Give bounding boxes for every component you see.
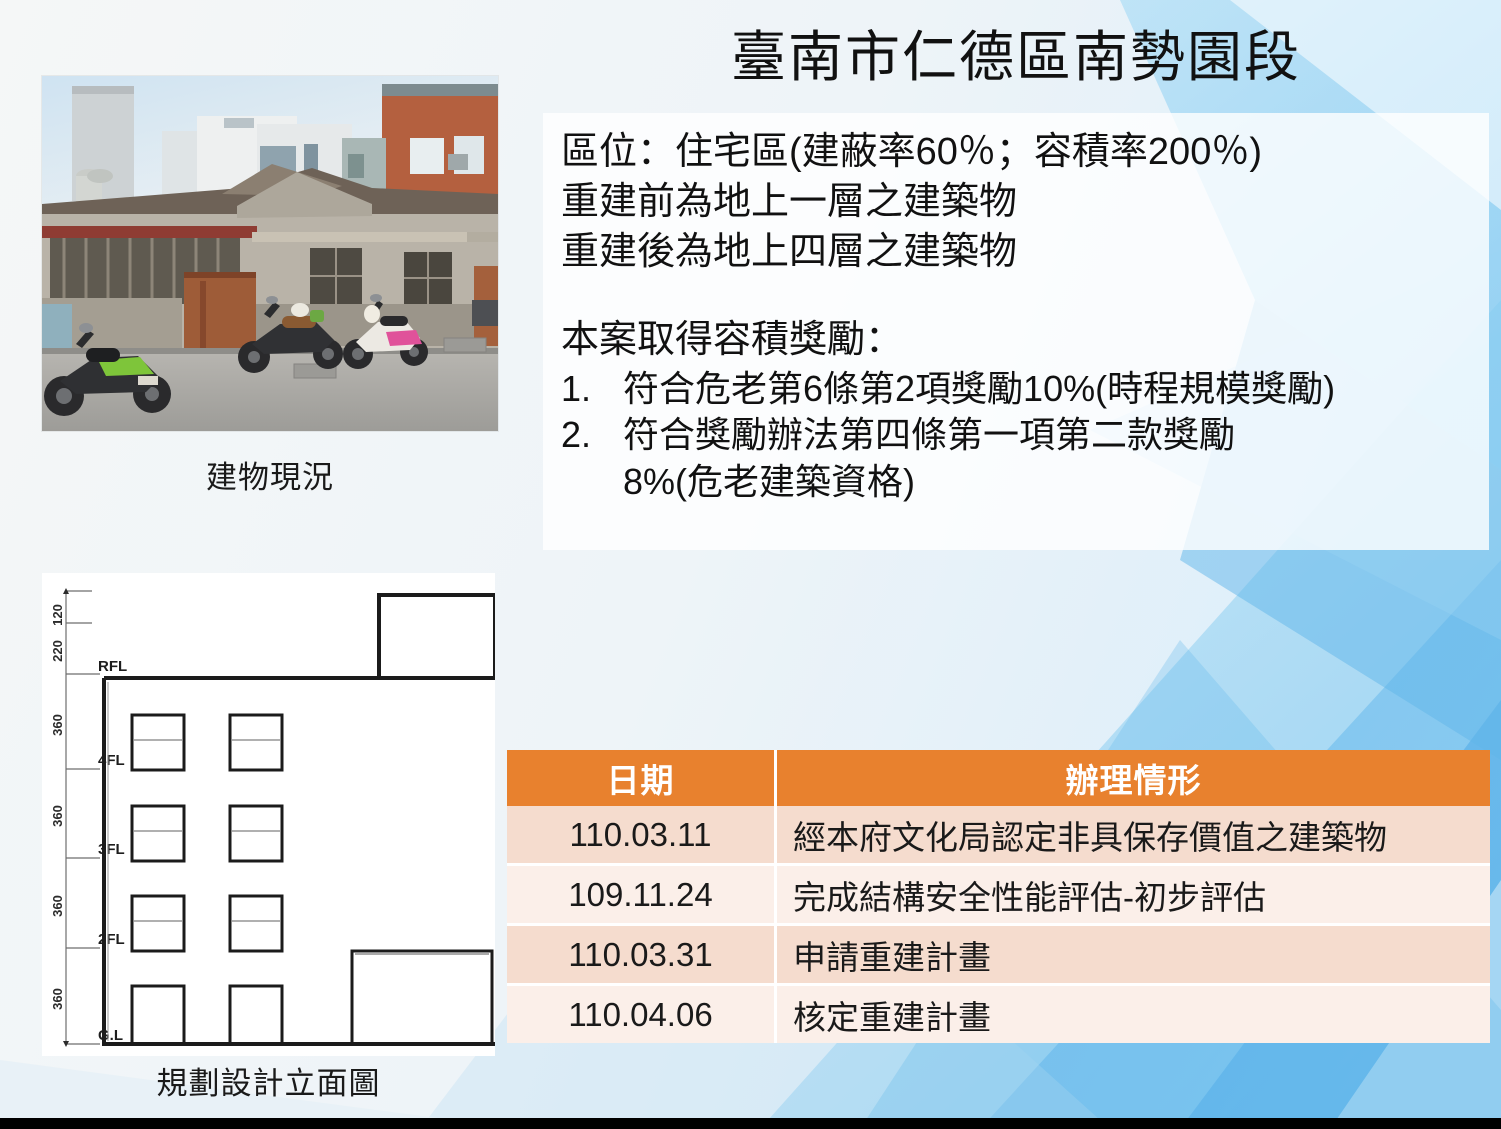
incentive-item-2-cont: 8%(危老建築資格)	[561, 459, 1473, 506]
building-photo	[42, 76, 498, 431]
table-cell-date: 110.03.31	[507, 926, 777, 986]
incentive-item-2: 2. 符合獎勵辦法第四條第一項第二款獎勵	[561, 412, 1473, 459]
info-line-after: 重建後為地上四層之建築物	[561, 227, 1473, 277]
page-title: 臺南市仁德區南勢園段	[543, 26, 1489, 89]
table-cell-date: 110.03.11	[507, 806, 777, 866]
label-rfl: RFL	[98, 658, 127, 675]
dim-360-d: 360	[50, 988, 65, 1010]
table-header-row: 日期 辦理情形	[507, 750, 1490, 806]
table-cell-detail: 完成結構安全性能評估-初步評估	[777, 866, 1490, 926]
table-header-detail: 辦理情形	[777, 750, 1490, 806]
dim-120: 120	[50, 604, 65, 626]
table-row: 109.11.24 完成結構安全性能評估-初步評估	[507, 866, 1490, 926]
table-cell-date: 110.04.06	[507, 986, 777, 1043]
dim-220: 220	[50, 640, 65, 662]
incentive-num-1: 1.	[561, 366, 623, 413]
table-cell-detail: 申請重建計畫	[777, 926, 1490, 986]
table-row: 110.04.06 核定重建計畫	[507, 986, 1490, 1043]
photo-caption: 建物現況	[42, 452, 498, 497]
table-cell-detail: 核定重建計畫	[777, 986, 1490, 1043]
label-gl: G.L	[98, 1027, 123, 1044]
progress-table-wrapper: 日期 辦理情形 110.03.11 經本府文化局認定非具保存價值之建築物 109…	[507, 750, 1490, 1043]
incentive-num-2: 2.	[561, 412, 623, 459]
info-spacer	[561, 277, 1473, 315]
incentive-list: 1. 符合危老第6條第2項獎勵10%(時程規模獎勵) 2. 符合獎勵辦法第四條第…	[561, 366, 1473, 506]
progress-table: 日期 辦理情形 110.03.11 經本府文化局認定非具保存價值之建築物 109…	[507, 750, 1490, 1043]
table-row: 110.03.11 經本府文化局認定非具保存價值之建築物	[507, 806, 1490, 866]
incentive-item-1: 1. 符合危老第6條第2項獎勵10%(時程規模獎勵)	[561, 366, 1473, 413]
table-cell-date: 109.11.24	[507, 866, 777, 926]
slide-root: 臺南市仁德區南勢園段	[0, 0, 1501, 1129]
bottom-band	[0, 1118, 1501, 1129]
elevation-drawing: 120 220 360 360 360 360 RFL 4FL 3FL 2FL …	[42, 573, 495, 1056]
incentive-heading: 本案取得容積獎勵：	[561, 315, 1473, 365]
info-line-before: 重建前為地上一層之建築物	[561, 177, 1473, 227]
table-row: 110.03.31 申請重建計畫	[507, 926, 1490, 986]
incentive-text-2: 符合獎勵辦法第四條第一項第二款獎勵	[623, 412, 1473, 459]
info-panel: 區位：住宅區(建蔽率60％；容積率200％) 重建前為地上一層之建築物 重建後為…	[543, 113, 1489, 550]
incentive-text-2-cont: 8%(危老建築資格)	[623, 459, 1473, 506]
info-line-zone: 區位：住宅區(建蔽率60％；容積率200％)	[561, 127, 1473, 177]
dim-360-a: 360	[50, 714, 65, 736]
table-header-date: 日期	[507, 750, 777, 806]
incentive-num-2-cont	[561, 459, 623, 506]
table-cell-detail: 經本府文化局認定非具保存價值之建築物	[777, 806, 1490, 866]
elevation-caption: 規劃設計立面圖	[42, 1058, 495, 1103]
incentive-text-1: 符合危老第6條第2項獎勵10%(時程規模獎勵)	[623, 366, 1473, 413]
dim-360-c: 360	[50, 895, 65, 917]
dim-360-b: 360	[50, 805, 65, 827]
